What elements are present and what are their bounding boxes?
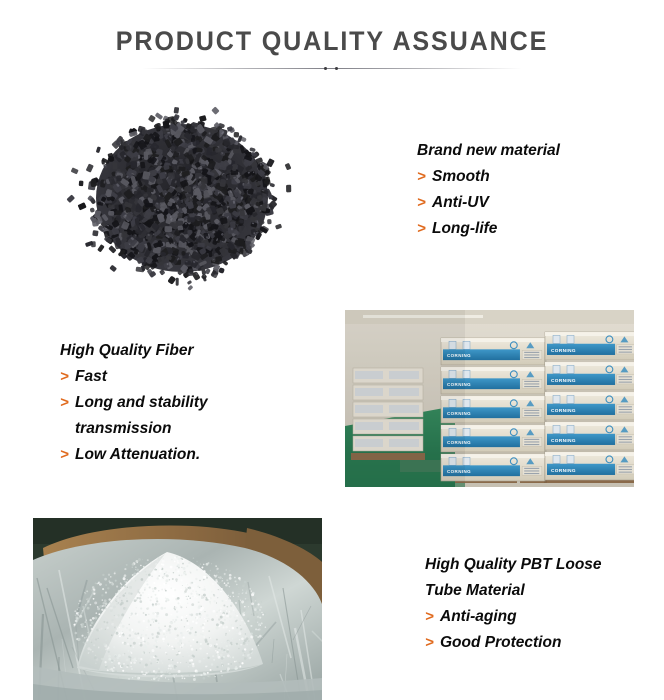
bullet-item: > Long and stability bbox=[60, 390, 208, 416]
chevron-bullet-icon: > bbox=[417, 164, 432, 190]
bullet-item: > Long-life bbox=[417, 216, 560, 242]
divider-dot bbox=[324, 67, 327, 70]
bullet-item: > Anti-UV bbox=[417, 190, 560, 216]
corning-warehouse-boxes-photo: CORNINGCORNINGCORNINGCORNINGCORNINGCORNI… bbox=[345, 310, 634, 487]
svg-text:CORNING: CORNING bbox=[551, 438, 576, 443]
page-title: PRODUCT QUALITY ASSUANCE bbox=[23, 26, 641, 57]
bullet-label: Anti-aging bbox=[440, 604, 517, 630]
chevron-bullet-icon: > bbox=[60, 442, 75, 468]
svg-text:CORNING: CORNING bbox=[551, 408, 576, 413]
bullet-label: Low Attenuation. bbox=[75, 442, 200, 468]
divider-dot bbox=[335, 67, 338, 70]
chevron-bullet-icon: > bbox=[425, 630, 440, 656]
warehouse-illustration: CORNINGCORNINGCORNINGCORNINGCORNINGCORNI… bbox=[345, 310, 634, 487]
bullet-label: Long and stability bbox=[75, 390, 208, 416]
chevron-bullet-icon: > bbox=[417, 216, 432, 242]
bullet-item: > Good Protection bbox=[425, 630, 602, 656]
bullet-item: > Smooth bbox=[417, 164, 560, 190]
text-block-brand-new-material: Brand new material > Smooth > Anti-UV > … bbox=[417, 138, 560, 242]
chevron-bullet-icon: > bbox=[60, 390, 75, 416]
bullet-label: Fast bbox=[75, 364, 107, 390]
powder-illustration bbox=[33, 518, 322, 700]
section-heading: High Quality Fiber bbox=[60, 338, 208, 364]
chevron-bullet-icon: > bbox=[425, 604, 440, 630]
text-block-high-quality-fiber: High Quality Fiber > Fast > Long and sta… bbox=[60, 338, 208, 468]
black-plastic-pellets-photo bbox=[48, 100, 312, 296]
title-divider bbox=[142, 67, 522, 70]
section-heading: Brand new material bbox=[417, 138, 560, 164]
text-block-pbt-loose-tube-material: High Quality PBT Loose Tube Material > A… bbox=[425, 552, 602, 656]
divider-rule bbox=[142, 68, 522, 69]
bullet-continuation-label: transmission bbox=[60, 416, 208, 442]
chevron-bullet-icon: > bbox=[60, 364, 75, 390]
section-heading-line: High Quality PBT Loose bbox=[425, 552, 602, 578]
bullet-item: > Fast bbox=[60, 364, 208, 390]
bullet-item: > Low Attenuation. bbox=[60, 442, 208, 468]
svg-text:CORNING: CORNING bbox=[551, 378, 576, 383]
bullet-item: > Anti-aging bbox=[425, 604, 602, 630]
bullet-label: Anti-UV bbox=[432, 190, 489, 216]
bullet-label: Good Protection bbox=[440, 630, 561, 656]
svg-text:CORNING: CORNING bbox=[551, 468, 576, 473]
section-heading-line: Tube Material bbox=[425, 578, 602, 604]
bullet-label: Long-life bbox=[432, 216, 497, 242]
bullet-label: Smooth bbox=[432, 164, 490, 190]
chevron-bullet-icon: > bbox=[417, 190, 432, 216]
svg-text:CORNING: CORNING bbox=[551, 348, 576, 353]
white-powder-in-foil-bag-photo bbox=[33, 518, 322, 700]
pellets-illustration bbox=[48, 100, 312, 296]
